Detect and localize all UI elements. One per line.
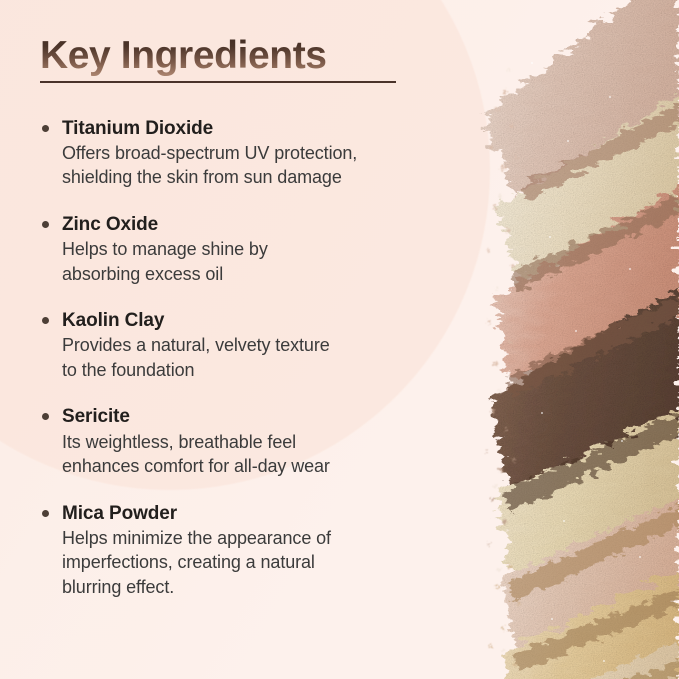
ingredient-description: Provides a natural, velvety texture to t… bbox=[62, 333, 460, 382]
list-item: Kaolin Clay Provides a natural, velvety … bbox=[40, 309, 460, 382]
bullet-icon bbox=[42, 125, 49, 132]
ingredients-list: Titanium Dioxide Offers broad-spectrum U… bbox=[40, 117, 460, 600]
bullet-icon bbox=[42, 510, 49, 517]
list-item: Mica Powder Helps minimize the appearanc… bbox=[40, 502, 460, 600]
list-item: Zinc Oxide Helps to manage shine by abso… bbox=[40, 213, 460, 286]
page-title: Key Ingredients bbox=[40, 34, 396, 78]
powder-swatch-artwork bbox=[479, 0, 679, 679]
ingredient-description: Helps to manage shine by absorbing exces… bbox=[62, 237, 460, 286]
ingredient-description: Helps minimize the appearance of imperfe… bbox=[62, 526, 460, 599]
ingredient-name: Kaolin Clay bbox=[62, 309, 460, 333]
content-column: Key Ingredients Titanium Dioxide Offers … bbox=[40, 34, 460, 599]
list-item: Titanium Dioxide Offers broad-spectrum U… bbox=[40, 117, 460, 190]
ingredient-name: Mica Powder bbox=[62, 502, 460, 526]
ingredient-name: Titanium Dioxide bbox=[62, 117, 460, 141]
bullet-icon bbox=[42, 317, 49, 324]
list-item: Sericite Its weightless, breathable feel… bbox=[40, 405, 460, 478]
title-underline bbox=[40, 81, 396, 83]
bullet-icon bbox=[42, 221, 49, 228]
page-title-block: Key Ingredients bbox=[40, 34, 396, 83]
ingredient-description: Its weightless, breathable feel enhances… bbox=[62, 430, 460, 479]
ingredient-name: Zinc Oxide bbox=[62, 213, 460, 237]
bullet-icon bbox=[42, 413, 49, 420]
ingredient-description: Offers broad-spectrum UV protection, shi… bbox=[62, 141, 460, 190]
key-ingredients-infographic: Key Ingredients Titanium Dioxide Offers … bbox=[0, 0, 679, 679]
ingredient-name: Sericite bbox=[62, 405, 460, 429]
